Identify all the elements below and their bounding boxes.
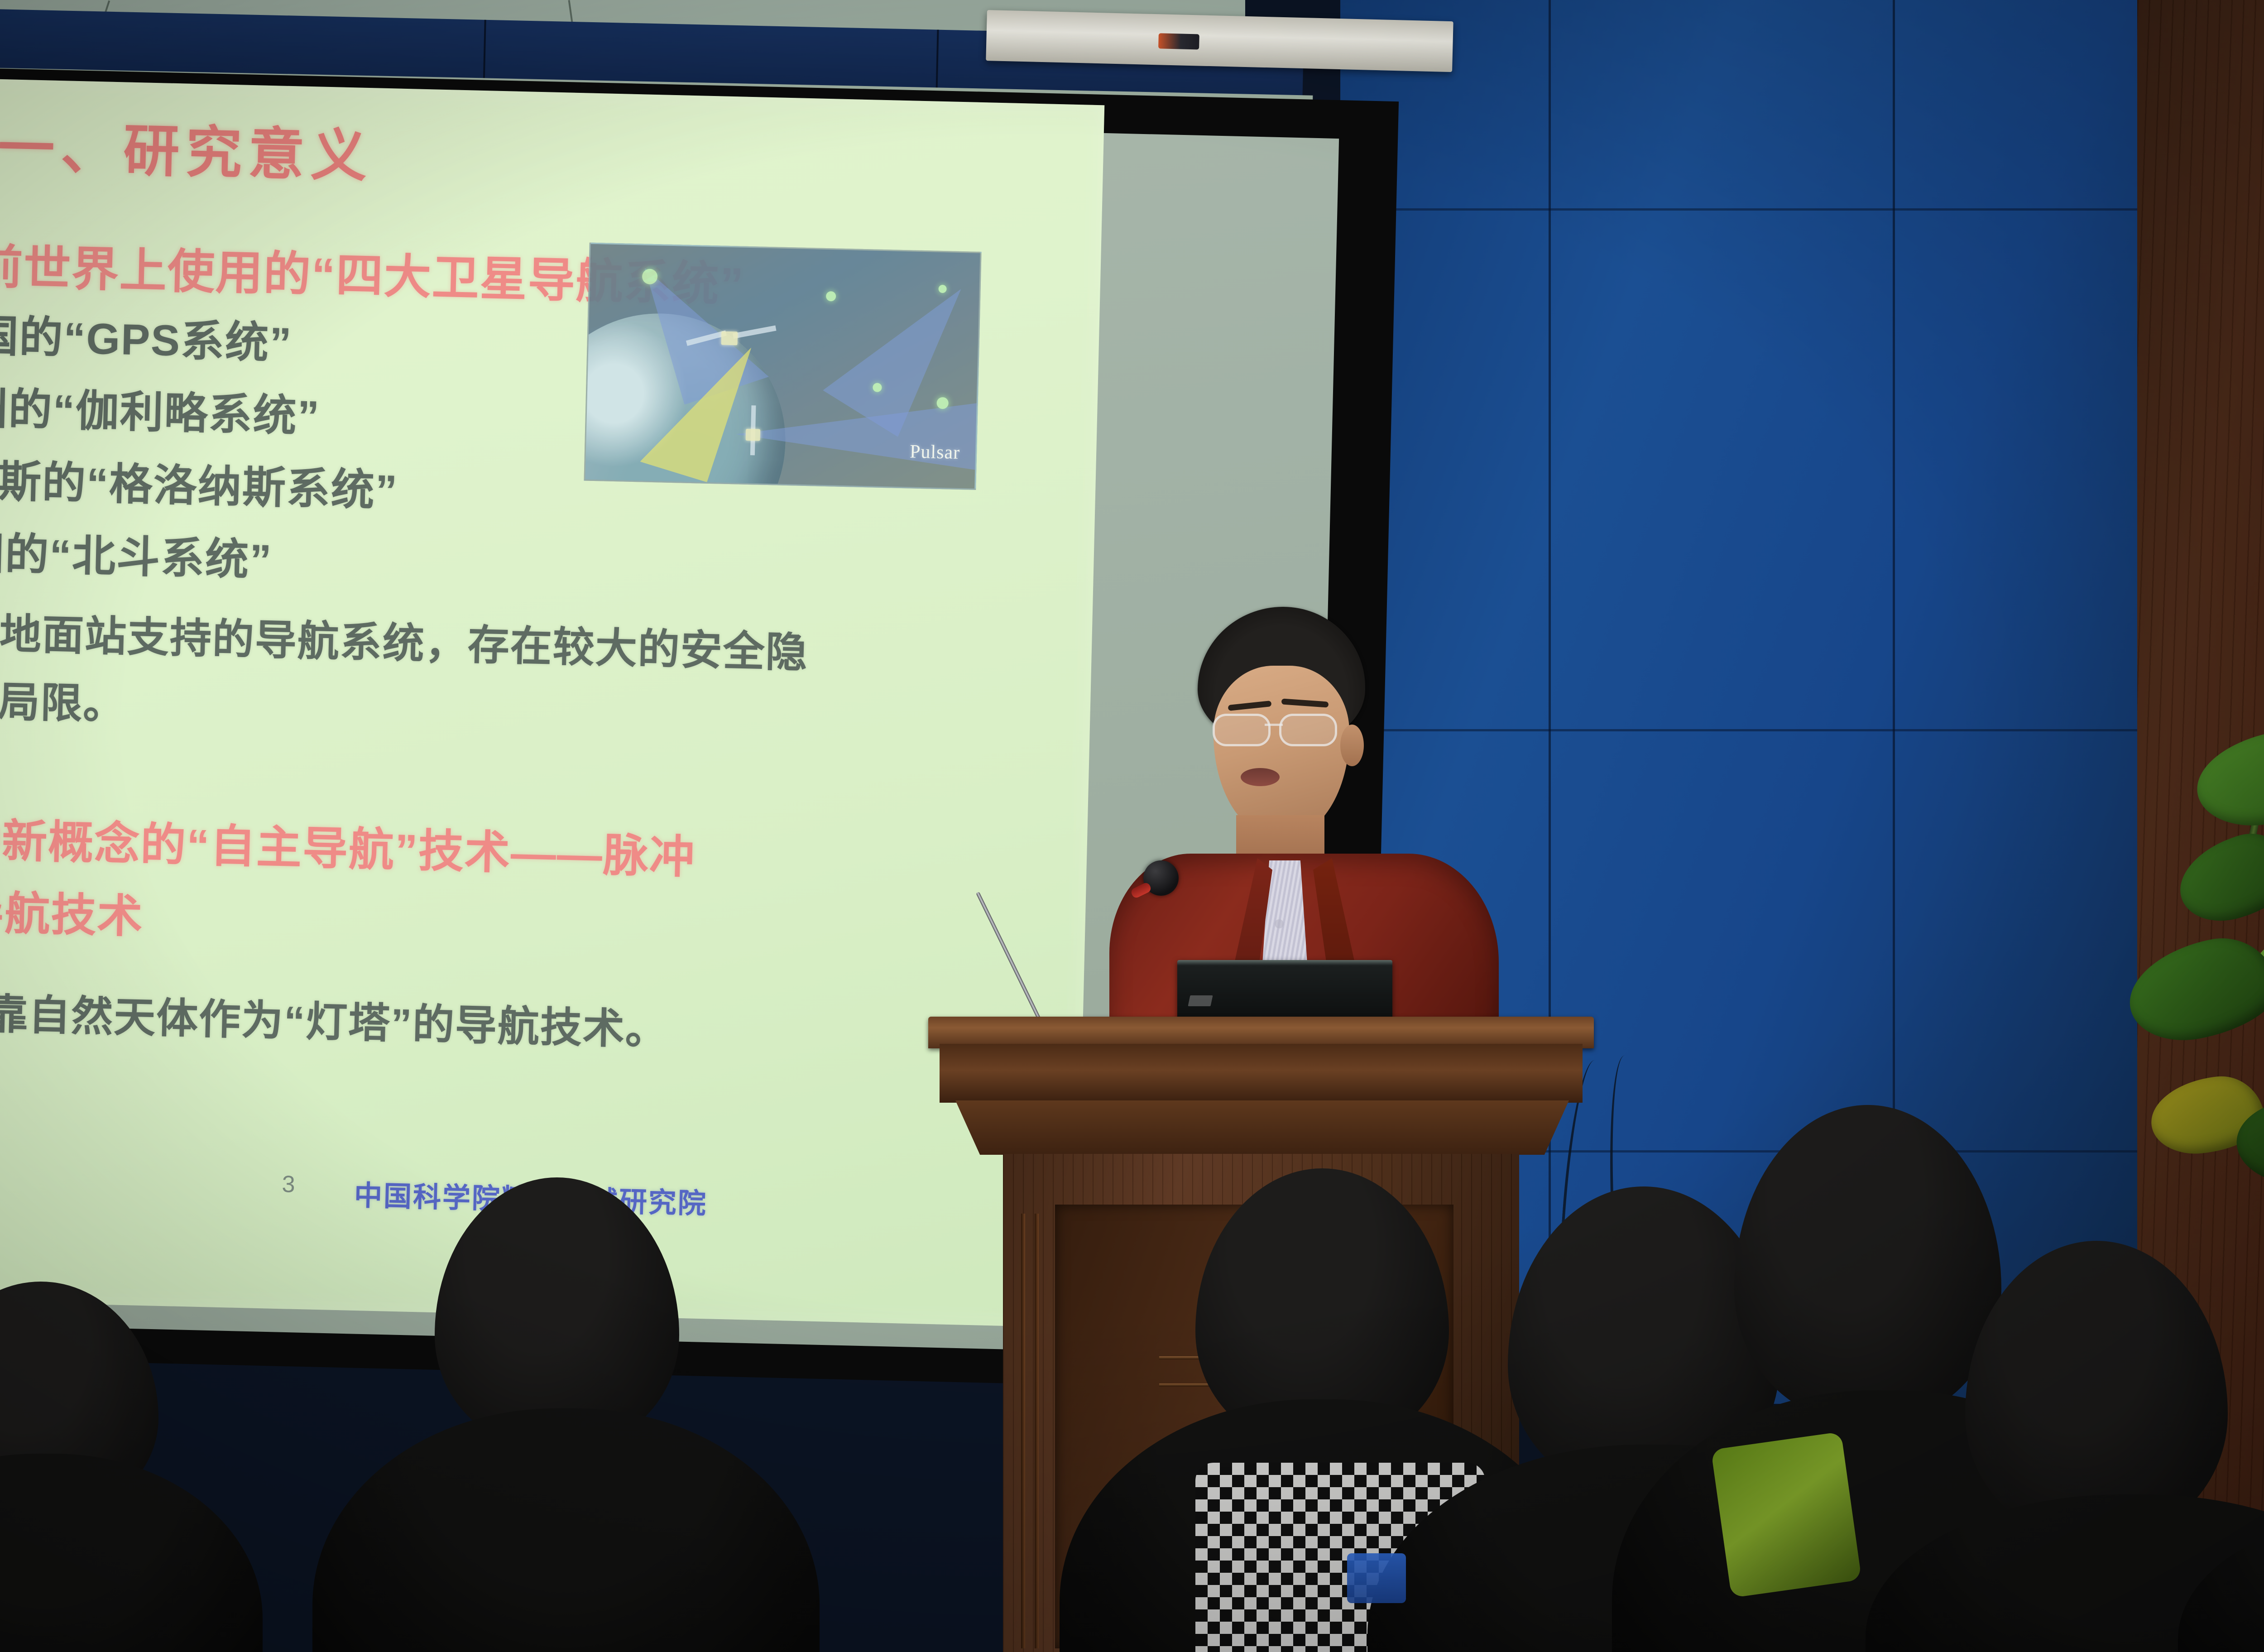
speaker-glasses-bridge [1265, 724, 1283, 726]
slide-line-7: 技术局限。 [0, 666, 126, 731]
plant-leaf [2191, 723, 2264, 833]
slide-line-9: 星导航技术 [0, 874, 144, 946]
audience-green-garment [1711, 1431, 1861, 1598]
laptop-logo-icon [1188, 995, 1213, 1006]
slide-line-5: 中国的“北斗系统” [0, 517, 273, 588]
lecture-hall-photo: 一、研究意义 目前世界上使用的“四大卫星导航系统” 美国的“GPS系统” 欧洲的… [0, 0, 2264, 1652]
audience-shoulders [0, 1454, 263, 1652]
slide-line-3: 欧洲的“伽利略系统” [0, 372, 321, 444]
slide-title: 一、研究意义 [0, 102, 374, 192]
pulsar-label: Pulsar [910, 441, 960, 464]
title-divider-rule [0, 190, 1066, 217]
speaker-glasses-right-lens [1279, 714, 1337, 746]
blue-object [1347, 1553, 1406, 1603]
plant-leaf [2169, 823, 2264, 932]
podium-cornice [940, 1044, 1583, 1103]
speaker-ear [1340, 725, 1364, 766]
slide-page-number: 3 [282, 1171, 295, 1198]
audience-shoulders [312, 1408, 820, 1652]
podium-flute-2 [1035, 1214, 1039, 1648]
slide-line-10: 种依靠自然天体作为“灯塔”的导航技术。 [0, 978, 669, 1057]
pulsar-illustration: Pulsar [584, 243, 981, 490]
satellite-icon [721, 331, 738, 346]
brand-badge-icon [1158, 33, 1199, 49]
plant-leaf [2120, 928, 2264, 1050]
satellite-icon-2 [746, 429, 761, 441]
podium-taper [955, 1100, 1569, 1155]
speaker-mouth [1241, 768, 1280, 786]
speaker-face [1214, 666, 1349, 838]
shirt-button [1275, 919, 1284, 928]
projected-slide: 一、研究意义 目前世界上使用的“四大卫星导航系统” 美国的“GPS系统” 欧洲的… [0, 78, 1104, 1328]
slide-line-6: 依赖地面站支持的导航系统，存在较大的安全隐 [0, 598, 809, 679]
slide-line-2: 美国的“GPS系统” [0, 299, 293, 371]
slide-line-4: 俄罗斯的“格洛纳斯系统” [0, 444, 399, 518]
podium-flute-1 [1021, 1214, 1025, 1648]
slide-line-8: 一种新概念的“自主导航”技术——脉冲 [0, 802, 696, 886]
speaker-glasses-left-lens [1213, 714, 1271, 746]
